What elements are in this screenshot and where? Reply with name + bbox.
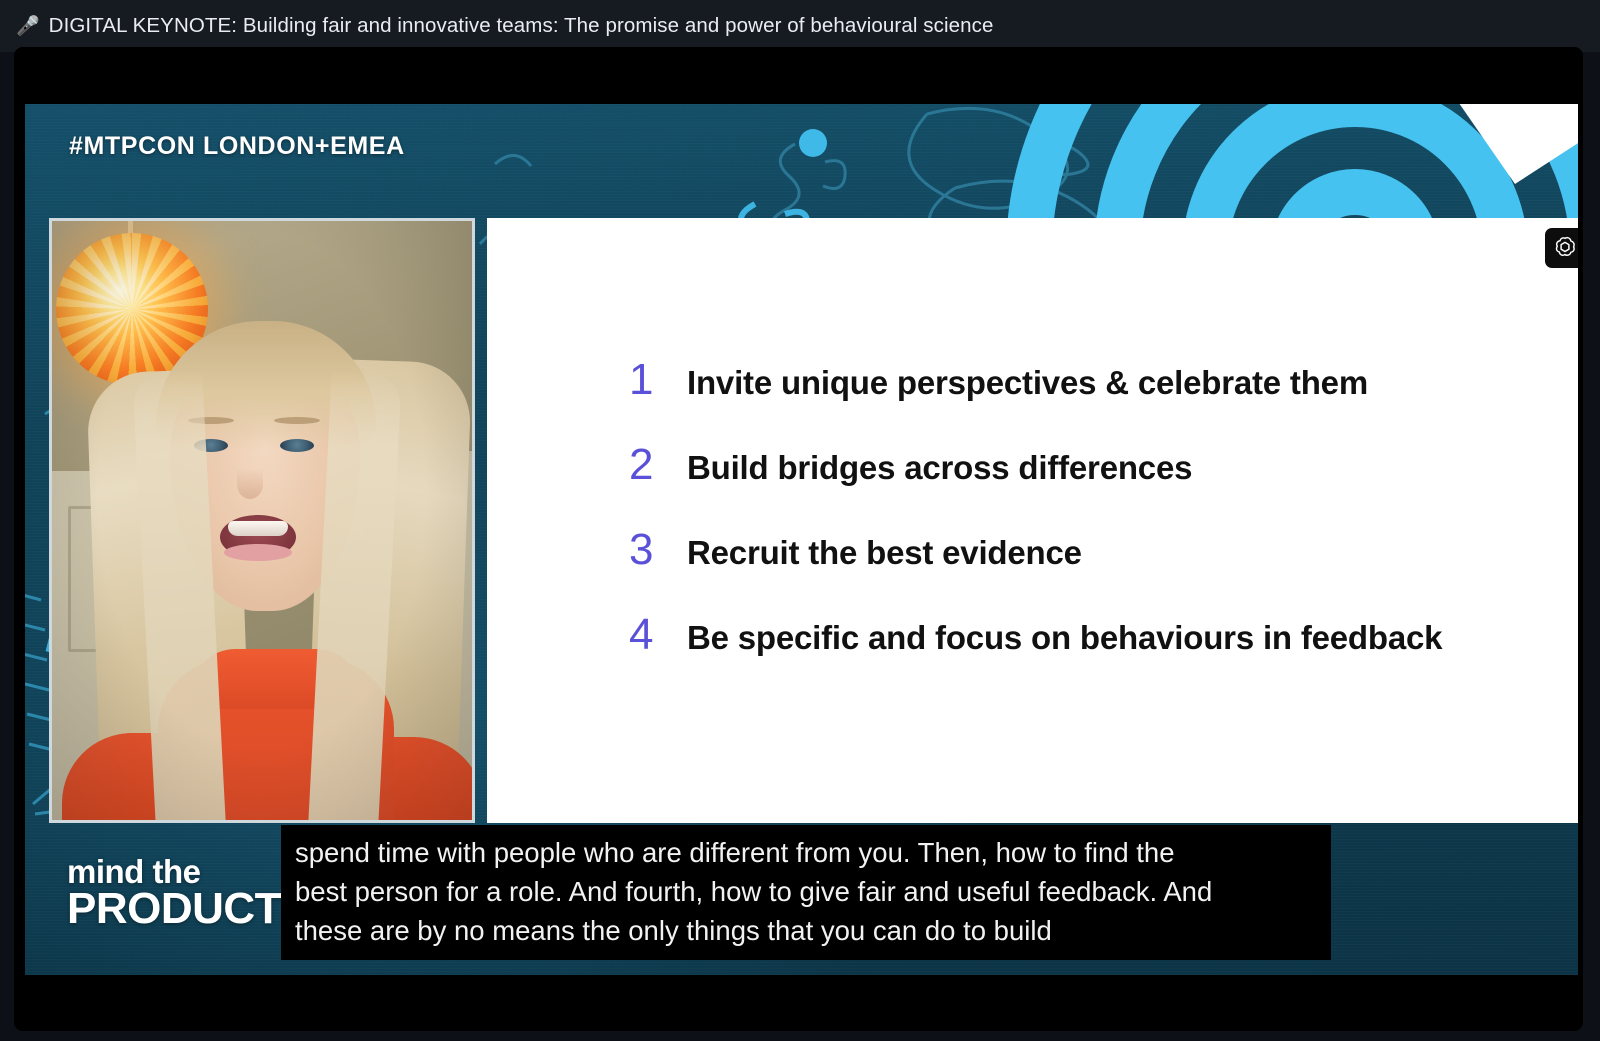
microphone-icon: 🎤	[16, 17, 40, 36]
list-item-number: 2	[629, 443, 687, 487]
caption-line: these are by no means the only things th…	[295, 911, 1317, 950]
mind-the-product-logo: mind the PRODUCT	[67, 856, 281, 930]
list-item-number: 1	[629, 358, 687, 402]
page-title: DIGITAL KEYNOTE: Building fair and innov…	[49, 14, 994, 38]
openai-logo-icon	[1545, 228, 1578, 268]
list-item: 2 Build bridges across differences	[629, 443, 1559, 487]
list-item-label: Be specific and focus on behaviours in f…	[687, 621, 1442, 656]
player-letterbox-top	[14, 47, 1583, 104]
speaker-vignette	[52, 221, 472, 820]
event-hashtag: #MTPCON LONDON+EMEA	[69, 132, 405, 161]
list-item-label: Invite unique perspectives & celebrate t…	[687, 366, 1368, 401]
list-item: 1 Invite unique perspectives & celebrate…	[629, 358, 1559, 402]
player-letterbox-bottom	[14, 975, 1583, 1031]
list-item-number: 3	[629, 528, 687, 572]
list-item-number: 4	[629, 613, 687, 657]
list-item: 3 Recruit the best evidence	[629, 528, 1559, 572]
numbered-takeaways-list: 1 Invite unique perspectives & celebrate…	[629, 358, 1559, 698]
slide-content-panel: 1 Invite unique perspectives & celebrate…	[487, 218, 1578, 823]
list-item: 4 Be specific and focus on behaviours in…	[629, 613, 1559, 657]
caption-line: best person for a role. And fourth, how …	[295, 872, 1317, 911]
video-player[interactable]: #MTPCON LONDON+EMEA	[14, 47, 1583, 1031]
presentation-slide: #MTPCON LONDON+EMEA	[25, 104, 1578, 975]
caption-overlay: spend time with people who are different…	[281, 825, 1331, 960]
app-header-bar: 🎤 DIGITAL KEYNOTE: Building fair and inn…	[0, 0, 1600, 52]
caption-line: spend time with people who are different…	[295, 833, 1317, 872]
list-item-label: Recruit the best evidence	[687, 536, 1082, 571]
speaker-video-tile[interactable]	[49, 218, 475, 823]
brand-line-two: PRODUCT	[67, 888, 281, 930]
brand-line-one: mind the	[67, 856, 281, 888]
list-item-label: Build bridges across differences	[687, 451, 1192, 486]
